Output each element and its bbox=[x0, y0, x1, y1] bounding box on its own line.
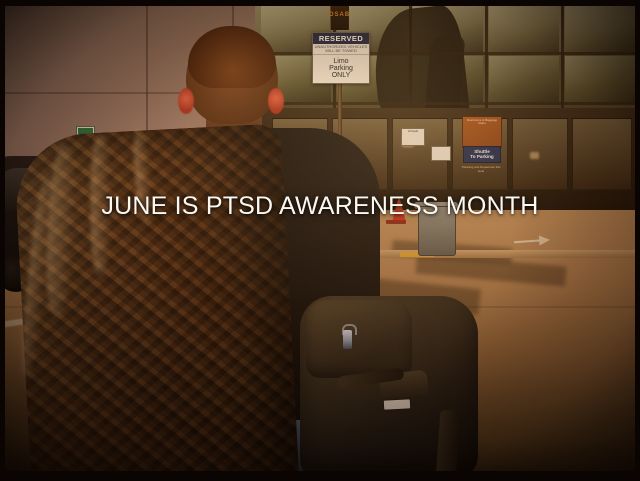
backpack-name-label bbox=[384, 399, 410, 409]
window-sign-arrivals: Arrivals bbox=[401, 128, 425, 146]
person-ear-left bbox=[178, 88, 194, 114]
parking-sign-header: RESERVED bbox=[313, 33, 369, 44]
reserved-limo-parking-sign: RESERVED UNAUTHORIZED VEHICLES WILL BE T… bbox=[312, 32, 370, 84]
wayfinding-panel-orange: Restrooms & Baggage Claim bbox=[462, 116, 502, 148]
window-sign-baggage bbox=[431, 146, 451, 161]
traffic-cone-base bbox=[386, 220, 406, 224]
parking-sign-line3: ONLY bbox=[313, 72, 369, 79]
wayfinding-panel-caption: Ticketing and Departures this level bbox=[460, 166, 502, 173]
parking-sign-line1: Limo bbox=[313, 58, 369, 65]
parking-sign-subtext: UNAUTHORIZED VEHICLES WILL BE TOWED bbox=[313, 44, 369, 55]
parking-sign-line2: Parking bbox=[313, 65, 369, 72]
luggage-tag bbox=[343, 330, 352, 349]
backpack-front-pocket bbox=[306, 300, 412, 378]
parking-sign-body: Limo Parking ONLY bbox=[313, 55, 369, 83]
traffic-cone bbox=[392, 196, 406, 222]
camouflage-jacket bbox=[13, 123, 299, 481]
person-ear-right bbox=[268, 88, 284, 114]
shuttle-to-parking-sign: Shuttle To Parking bbox=[463, 146, 501, 163]
photo-canvas: Arrivals Restrooms & Baggage Claim Shutt… bbox=[0, 0, 640, 481]
vertical-banner-sign: OSAB bbox=[330, 0, 349, 30]
shuttle-sign-line2: To Parking bbox=[464, 154, 500, 159]
trash-bin bbox=[418, 206, 456, 256]
wayfinding-panel-text: Restrooms & Baggage Claim bbox=[463, 117, 501, 126]
